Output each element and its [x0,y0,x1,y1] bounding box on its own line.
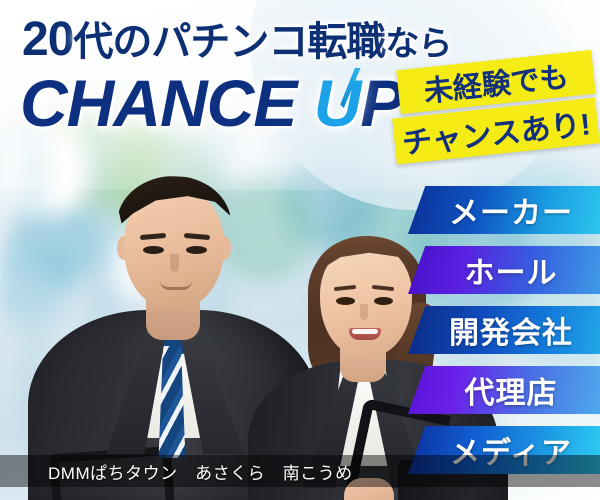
man-eye-left [143,246,164,254]
chance-up-logo: CHANCE UP [20,70,403,136]
woman-teeth [352,329,378,334]
headline-middle: 代のパチンコ転職 [73,20,385,64]
category-label-developer: 開発会社 [408,308,600,352]
logo-chance-text: CHANCE [20,66,314,140]
woman-eye-right [374,297,393,305]
category-label-hall: ホール [408,248,600,292]
man-mouth [160,281,192,290]
recruitment-banner: 20代のパチンコ転職なら CHANCE UP 未経験でも チャンスあり! メーカ… [0,0,600,500]
woman-eye-left [336,297,355,305]
man-nose [170,254,179,272]
headline: 20代のパチンコ転職なら [22,16,451,64]
headline-number: 20 [22,13,73,66]
caption-text: DMMぱちタウン あさくら 南こうめ [0,459,353,484]
headline-tail: なら [385,25,451,63]
woman-nose [360,304,368,320]
category-label-agency: 代理店 [408,368,600,412]
logo-u-letter: U [314,70,361,136]
category-label-maker: メーカー [408,188,600,232]
category-button-agency[interactable]: 代理店 [408,366,600,414]
caption-bar: DMMぱちタウン あさくら 南こうめ [0,455,600,487]
man-eye-right [186,246,207,254]
category-button-maker[interactable]: メーカー [408,186,600,234]
category-button-hall[interactable]: ホール [408,246,600,294]
category-button-developer[interactable]: 開発会社 [408,306,600,354]
